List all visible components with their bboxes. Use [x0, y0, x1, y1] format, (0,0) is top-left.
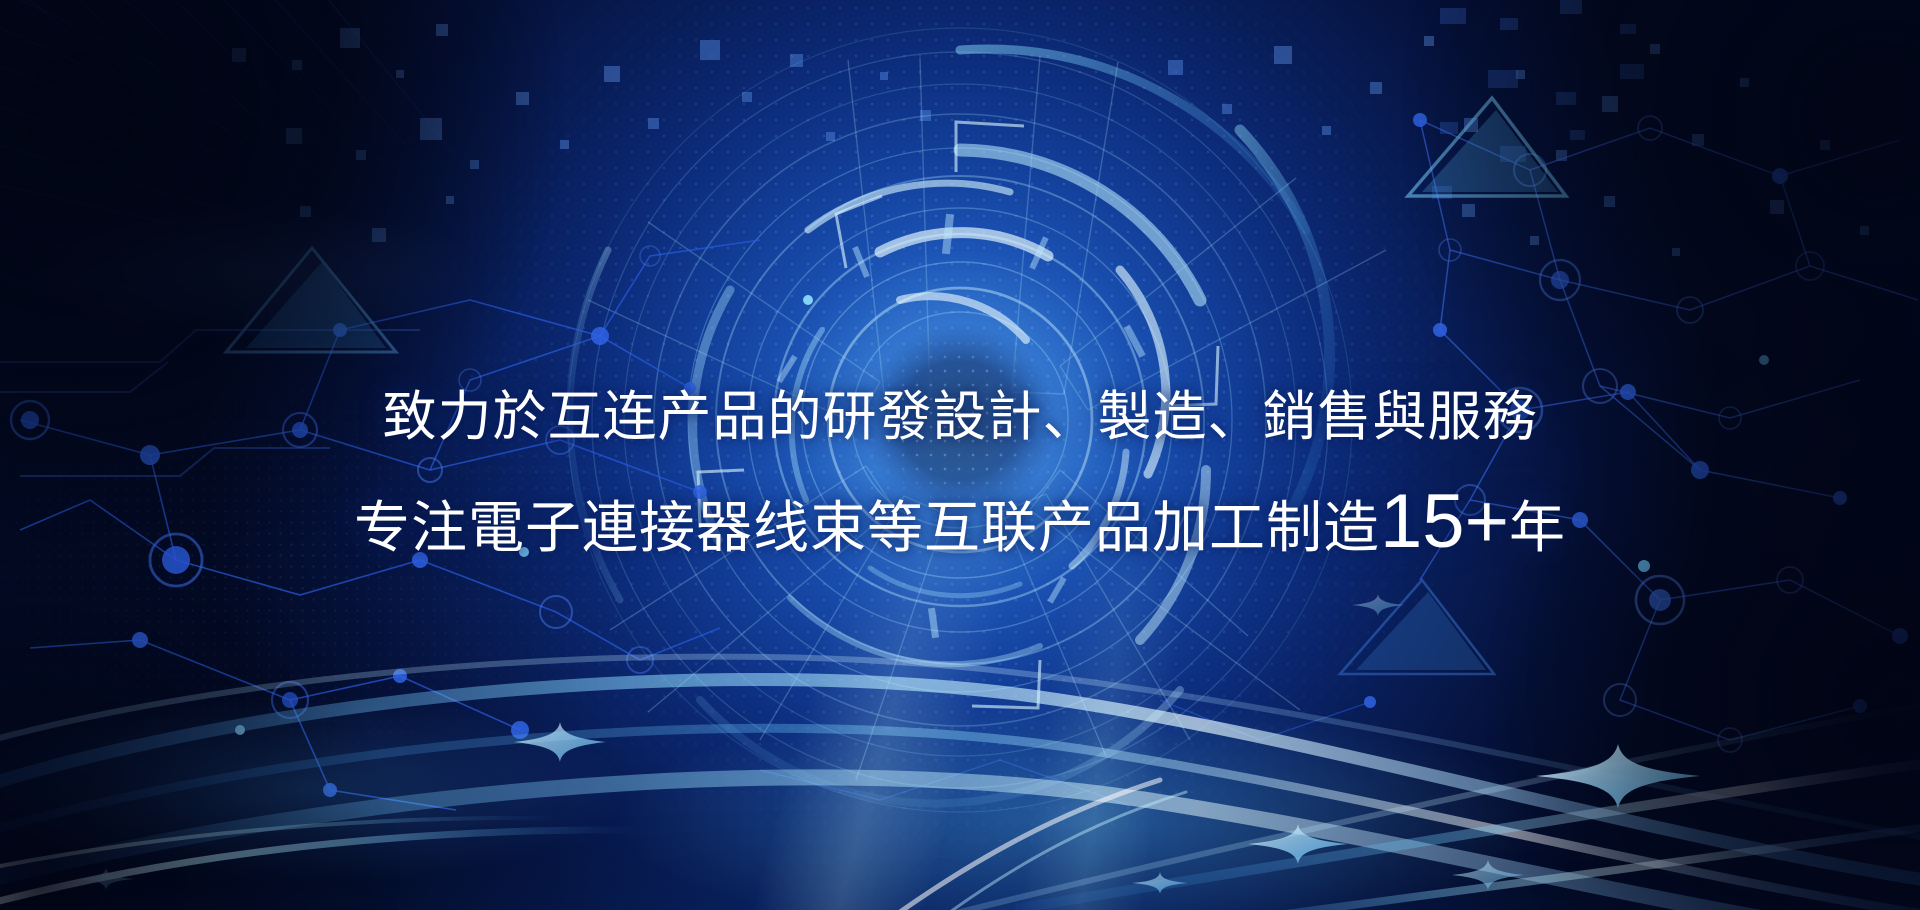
sparkle-group	[0, 0, 1920, 910]
hero-banner: 致力於互连产品的研發設計、製造、銷售與服務 专注電子連接器线束等互联产品加工制造…	[0, 0, 1920, 910]
